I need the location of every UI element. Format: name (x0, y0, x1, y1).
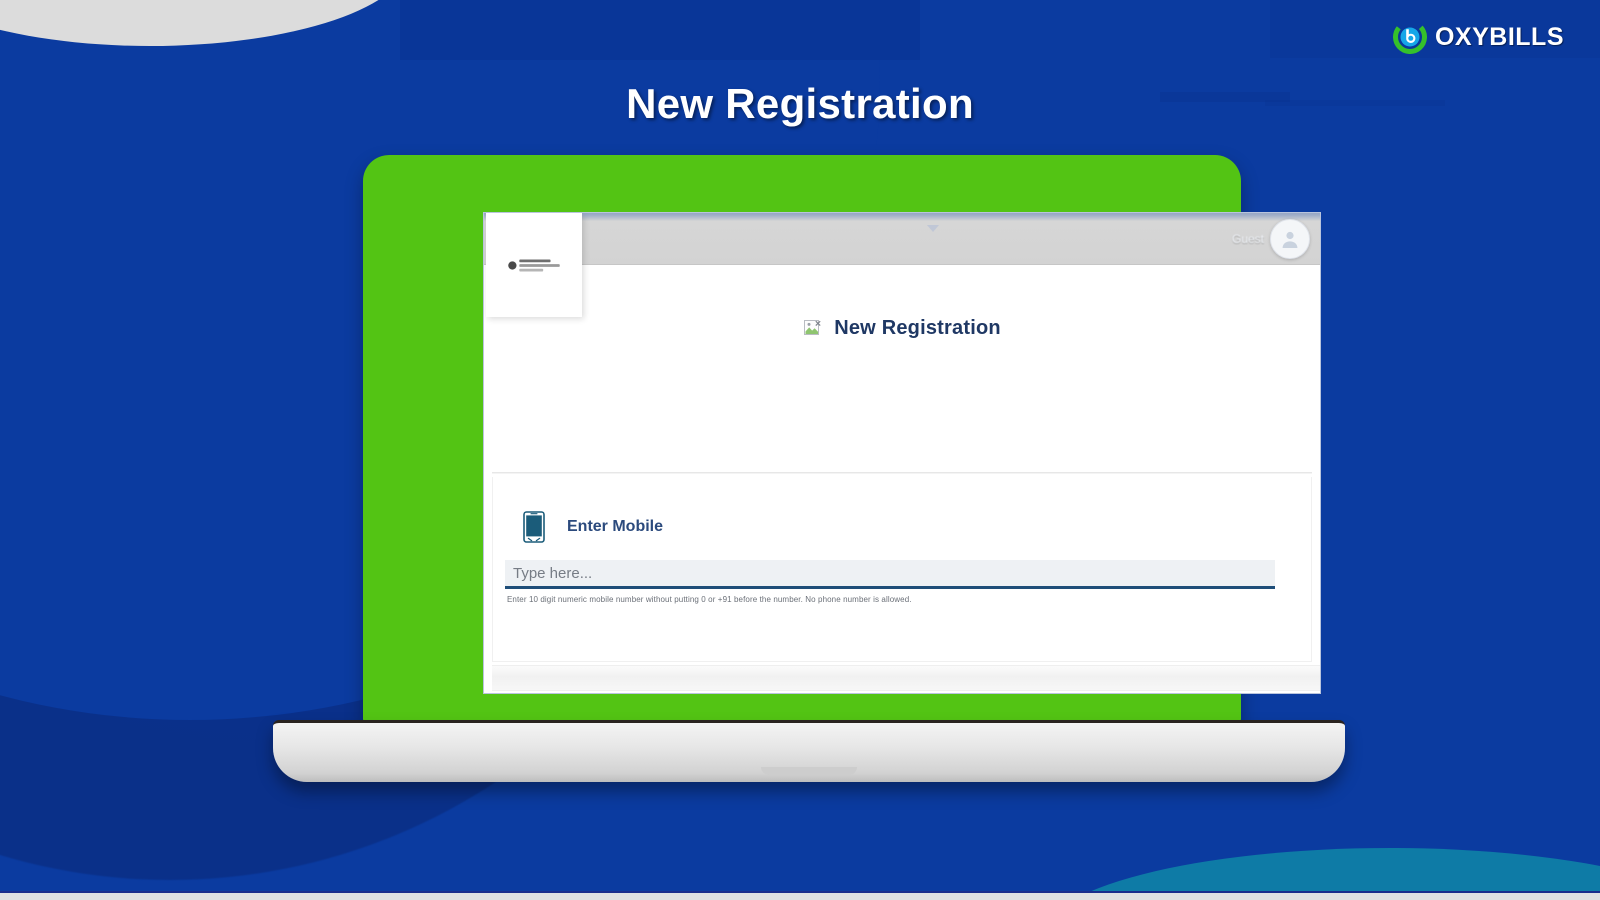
laptop-mockup: Guest (265, 155, 1355, 795)
form-footer-band (492, 665, 1320, 691)
app-body: New Registration (484, 265, 1320, 694)
mobile-field-label: Enter Mobile (567, 518, 663, 536)
topbar-user-area[interactable]: Guest (1232, 213, 1312, 265)
oxybills-circle-b-logo-icon (1393, 20, 1427, 54)
user-avatar-icon[interactable] (1270, 219, 1310, 259)
app-topbar: Guest (484, 213, 1320, 265)
form-footer-blank (492, 691, 1320, 694)
laptop-lid: Guest (363, 155, 1241, 723)
brand-wordmark: OXYBILLS (1435, 23, 1564, 52)
user-label: Guest (1232, 232, 1264, 246)
mobile-number-input[interactable] (505, 560, 1275, 589)
brand-logo: OXYBILLS (1393, 20, 1564, 54)
background-rect-1 (400, 0, 920, 60)
mobile-field-header: Enter Mobile (493, 477, 1311, 543)
laptop-screen: Guest (483, 212, 1321, 694)
mobile-phone-icon (523, 511, 545, 543)
background-bottom-strip (0, 891, 1600, 900)
app-brand-card[interactable] (486, 213, 582, 317)
heading-divider (492, 472, 1312, 473)
laptop-notch (761, 767, 857, 775)
mobile-input-wrap (505, 560, 1275, 589)
caret-down-icon (927, 225, 939, 232)
company-logo-image-icon (508, 259, 560, 271)
slide-canvas: OXYBILLS New Registration Guest (0, 0, 1600, 900)
app-page-heading: New Registration (484, 265, 1320, 340)
page-title: New Registration (0, 80, 1600, 128)
laptop-base (273, 720, 1345, 782)
page-heading-text: New Registration (834, 317, 1001, 340)
mobile-helper-text: Enter 10 digit numeric mobile number wit… (507, 595, 1311, 604)
broken-image-icon (803, 319, 822, 338)
registration-form-card: Enter Mobile Enter 10 digit numeric mobi… (492, 477, 1312, 662)
